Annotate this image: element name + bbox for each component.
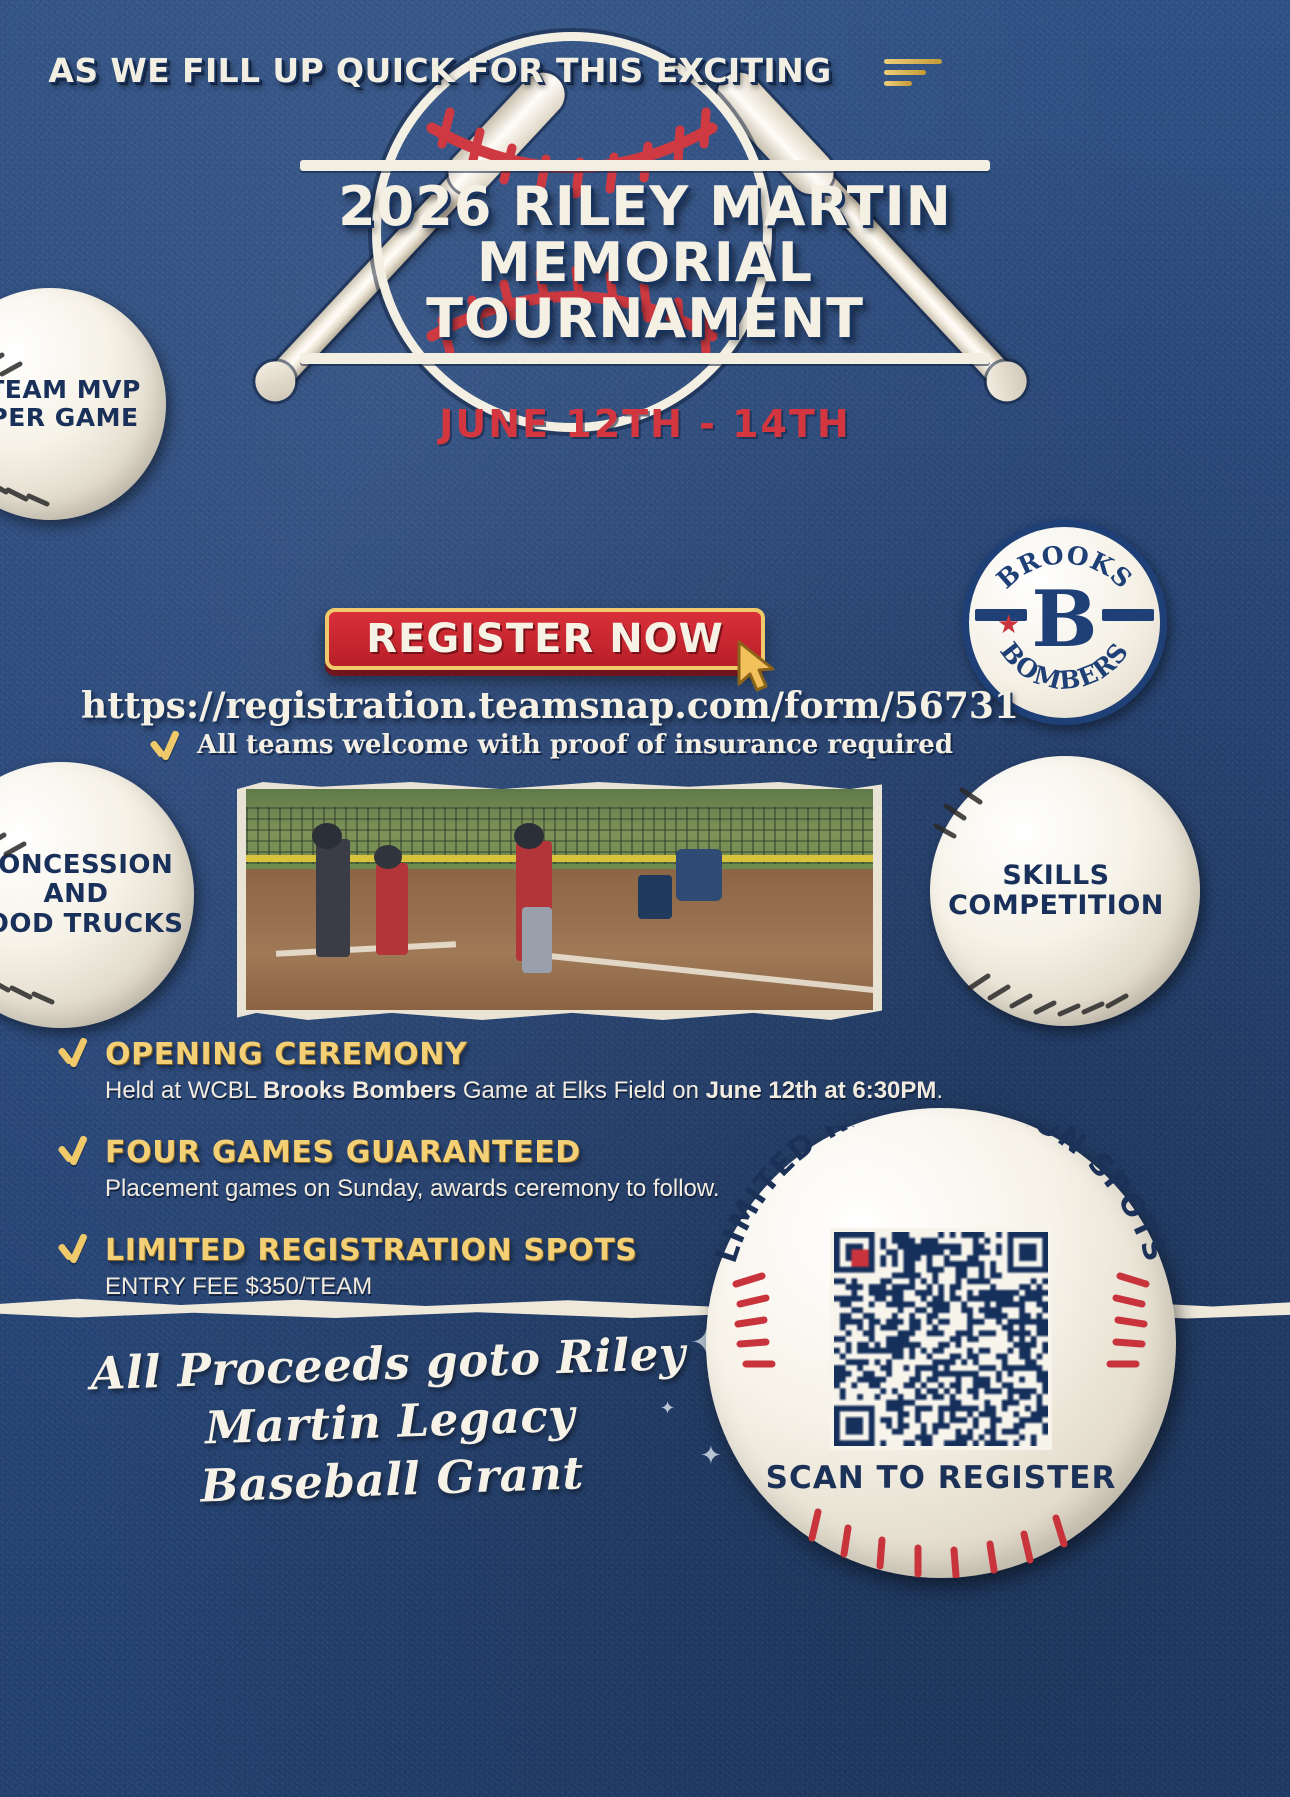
title-rule-top	[300, 160, 990, 171]
baseball-lace-icon	[0, 762, 194, 1028]
bullet-subtext: ENTRY FEE $350/TEAM	[105, 1273, 638, 1301]
sparkle-icon: ✦	[660, 1398, 675, 1419]
badge-concession: CONCESSION AND FOOD TRUCKS	[0, 762, 194, 1028]
check-icon	[55, 1231, 89, 1265]
tournament-dates: JUNE 12TH - 14TH	[300, 402, 990, 446]
badge-team-mvp: TEAM MVP PER GAME	[0, 288, 166, 520]
insurance-note-row: All teams welcome with proof of insuranc…	[60, 728, 1040, 762]
bullet-subtext: Held at WCBL Brooks Bombers Game at Elks…	[105, 1077, 943, 1105]
bullet-heading: OPENING CEREMONY	[105, 1037, 943, 1072]
qr-code-image	[834, 1232, 1048, 1446]
qr-code[interactable]	[830, 1228, 1052, 1450]
qr-baseball: LIMITED REGISTRATION SPOTS SCAN TO REGIS…	[706, 1108, 1176, 1578]
registration-url[interactable]: https://registration.teamsnap.com/form/5…	[60, 685, 1040, 727]
scan-to-register-caption: SCAN TO REGISTER	[706, 1460, 1176, 1496]
check-icon	[147, 728, 181, 762]
promo-line-2: AS WE FILL UP QUICK FOR THIS EXCITING	[0, 47, 880, 94]
bullet-subtext: Placement games on Sunday, awards ceremo…	[105, 1175, 720, 1203]
check-icon	[55, 1133, 89, 1167]
proceeds-statement: All Proceeds goto Riley Martin Legacy Ba…	[42, 1323, 738, 1521]
title-plate: 2026 RILEY MARTIN MEMORIAL TOURNAMENT	[300, 160, 990, 364]
baseball-lace-icon	[0, 288, 166, 520]
bullet-heading: FOUR GAMES GUARANTEED	[105, 1135, 720, 1170]
register-now-button[interactable]: REGISTER NOW	[325, 608, 765, 670]
insurance-note: All teams welcome with proof of insuranc…	[197, 730, 953, 760]
logo-monogram: B	[969, 581, 1160, 659]
game-photo	[237, 782, 882, 1020]
game-photo-image	[246, 789, 873, 1010]
speed-lines-icon	[884, 59, 942, 92]
title-rule-bottom	[300, 353, 990, 364]
page-title: 2026 RILEY MARTIN MEMORIAL TOURNAMENT	[300, 171, 990, 353]
baseball-lace-icon	[930, 756, 1200, 1026]
register-now-label: REGISTER NOW	[366, 616, 724, 662]
badge-skills: SKILLS COMPETITION	[930, 756, 1200, 1026]
bullet-heading: LIMITED REGISTRATION SPOTS	[105, 1233, 638, 1268]
list-item: OPENING CEREMONY Held at WCBL Brooks Bom…	[55, 1035, 1015, 1105]
check-icon	[55, 1035, 89, 1069]
